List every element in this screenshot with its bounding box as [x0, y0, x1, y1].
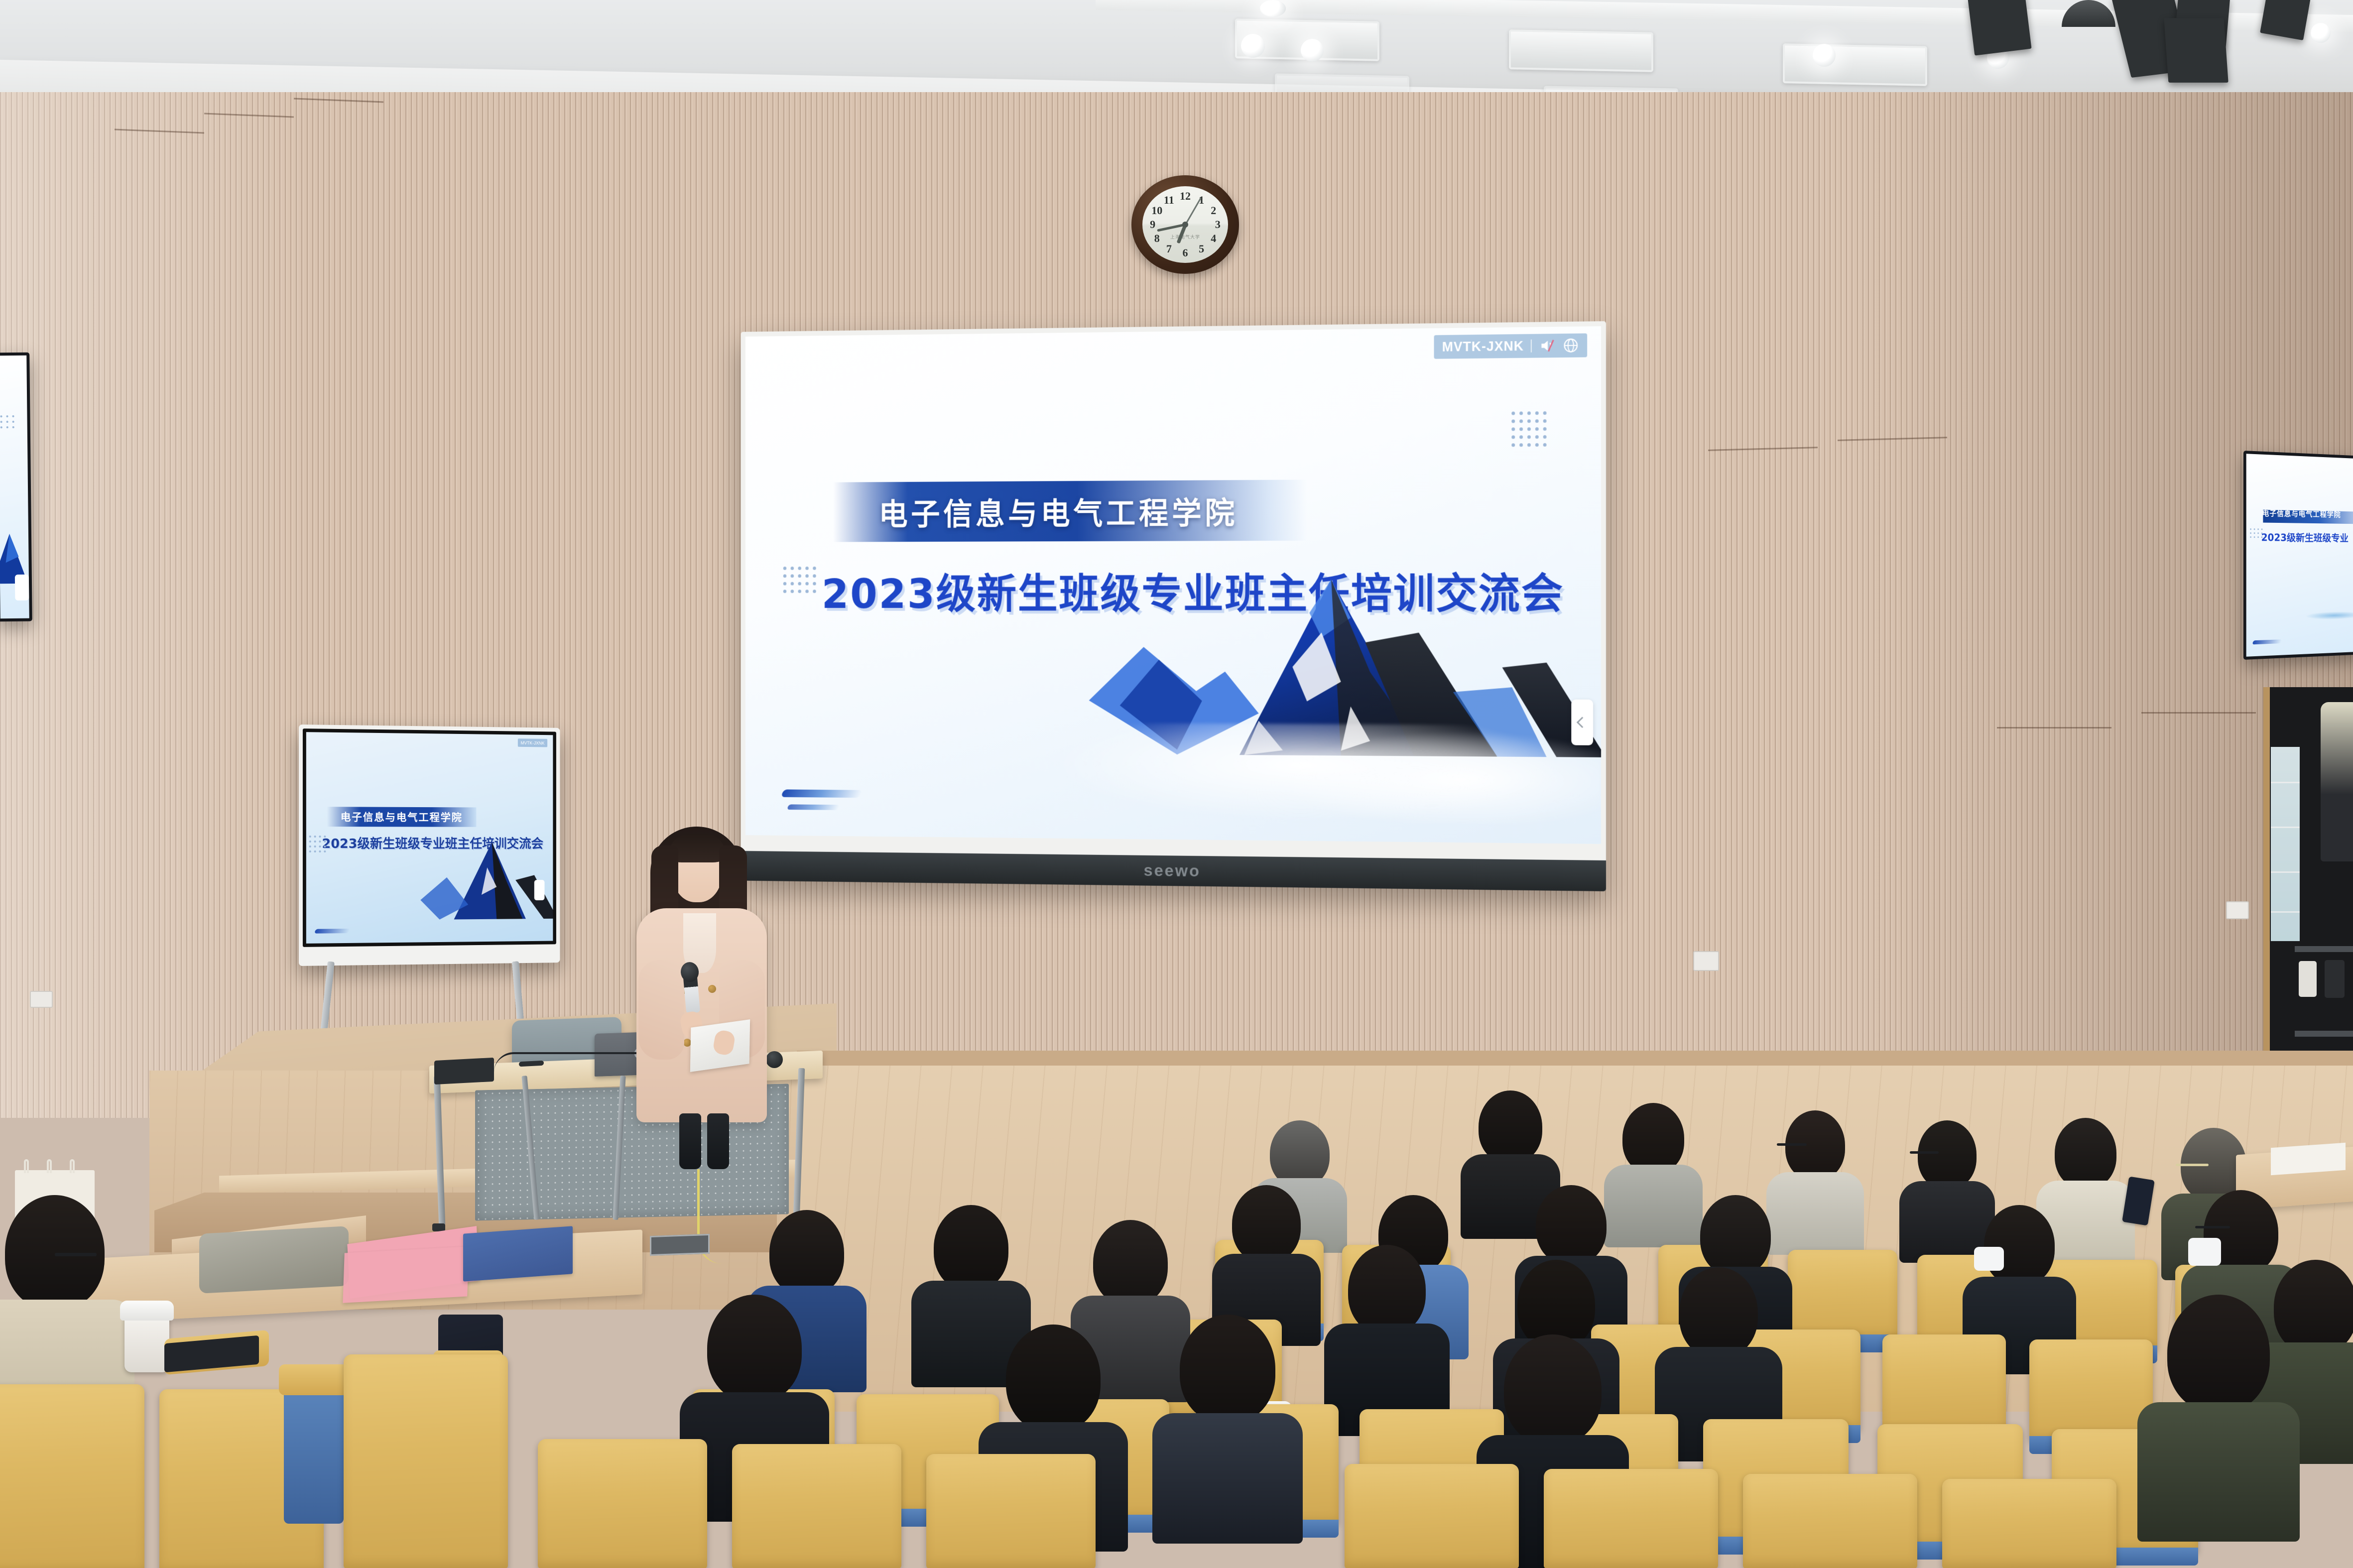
chevron-left-icon[interactable] — [1571, 700, 1593, 745]
audience-person — [1972, 1205, 2067, 1354]
backpack — [199, 1226, 349, 1294]
head — [2055, 1118, 2116, 1189]
auditorium-chair[interactable] — [1345, 1464, 1519, 1568]
eyeglasses — [55, 1253, 97, 1256]
auditorium-chair[interactable] — [1882, 1334, 2006, 1436]
clock-face: 12 1 2 3 4 5 6 7 8 9 10 11 上海电气大学 — [1142, 186, 1228, 263]
auditorium-chair[interactable] — [2029, 1339, 2153, 1441]
panel-bezel: MVTK-JXNK 电子信息与电气工程学院 2023级新生班级专业班主任培训交流… — [299, 724, 560, 966]
head — [1679, 1267, 1758, 1358]
chair-armrest[interactable] — [279, 1364, 349, 1395]
wall-seam — [2141, 712, 2256, 714]
decorative-swoosh — [787, 804, 840, 810]
coat-button — [708, 985, 716, 993]
panel-mountain-illustration — [401, 826, 553, 925]
eyeglasses — [2195, 1226, 2230, 1228]
wall-highlight-left — [0, 92, 309, 1118]
head — [769, 1210, 844, 1296]
head — [1270, 1120, 1330, 1187]
clock-numeral: 6 — [1183, 246, 1188, 259]
clock-center-pin — [1182, 222, 1188, 228]
status-pill-label: MVTK-JXNK — [1442, 338, 1524, 355]
audience-person — [1220, 1185, 1312, 1329]
mobile-interactive-panel[interactable]: MVTK-JXNK 电子信息与电气工程学院 2023级新生班级专业班主任培训交流… — [299, 724, 560, 966]
left-edge-display[interactable] — [0, 353, 32, 622]
auditorium-chair[interactable] — [538, 1439, 707, 1568]
presenter — [631, 816, 771, 1194]
wall-socket-plate[interactable] — [1693, 951, 1719, 971]
head — [707, 1295, 802, 1402]
clock-numeral: 8 — [1154, 232, 1160, 245]
display-bezel: MVTK-JXNK — [741, 321, 1606, 891]
head — [1348, 1245, 1426, 1334]
head — [1984, 1205, 2055, 1286]
right-wall-display[interactable]: 电子信息与电气工程学院 2023级新生班级专业 — [2243, 451, 2353, 660]
face-mask — [2188, 1238, 2221, 1266]
spot-light — [1260, 0, 1286, 17]
auditorium-chair[interactable] — [926, 1454, 1096, 1568]
head — [1700, 1195, 1771, 1276]
panel-screen[interactable]: MVTK-JXNK 电子信息与电气工程学院 2023级新生班级专业班主任培训交流… — [306, 732, 553, 944]
thermos — [2299, 961, 2317, 997]
slide-banner: 电子信息与电气工程学院 — [833, 480, 1307, 542]
head — [934, 1205, 1008, 1291]
podium-leg — [793, 1068, 805, 1217]
head — [1093, 1220, 1168, 1306]
panel-light — [1783, 43, 1927, 86]
shelf — [2295, 946, 2353, 952]
status-pill[interactable]: MVTK-JXNK — [1434, 333, 1587, 359]
head — [1479, 1090, 1542, 1163]
head — [2167, 1295, 2270, 1412]
presenter-boot — [679, 1113, 701, 1169]
panel-light — [1509, 29, 1653, 72]
face-mask — [1974, 1247, 2004, 1271]
podium-leg — [434, 1076, 445, 1225]
audio-receiver-unit[interactable] — [434, 1058, 494, 1085]
display-screen[interactable]: MVTK-JXNK — [745, 326, 1601, 844]
auditorium-chair[interactable] — [732, 1444, 901, 1568]
shelf — [2295, 1031, 2353, 1037]
audience-person — [2151, 1295, 2286, 1524]
coat-button — [683, 1039, 691, 1047]
auditorium-chair[interactable] — [1743, 1474, 1917, 1568]
audience-person — [1335, 1245, 1439, 1424]
chair-side-panel — [284, 1374, 344, 1524]
decorative-dot-grid — [783, 567, 816, 593]
lecture-hall-scene: 12 1 2 3 4 5 6 7 8 9 10 11 上海电气大学 — [0, 0, 2353, 1568]
network-globe-icon — [1562, 337, 1579, 354]
auditorium-chair[interactable] — [1942, 1479, 2116, 1568]
panel-status-pill[interactable]: MVTK-JXNK — [518, 738, 547, 747]
panel-inner-frame: MVTK-JXNK 电子信息与电气工程学院 2023级新生班级专业班主任培训交流… — [303, 728, 556, 947]
wall-switch-plate[interactable] — [2226, 901, 2249, 919]
spot-light — [2311, 23, 2331, 43]
pink-paper[interactable] — [343, 1246, 469, 1303]
auditorium-chair[interactable] — [0, 1384, 144, 1568]
eyeglasses — [1910, 1151, 1939, 1154]
cloud-mist — [1030, 723, 1601, 825]
hall-floor-edge — [797, 1051, 2353, 1066]
wall-socket-plate[interactable] — [30, 991, 53, 1008]
container — [2325, 960, 2345, 998]
clock-numeral: 4 — [1211, 232, 1216, 245]
clock-numeral: 10 — [1151, 204, 1162, 217]
wall-clock: 12 1 2 3 4 5 6 7 8 9 10 11 上海电气大学 — [1131, 175, 1239, 274]
auditorium-chair[interactable] — [1544, 1469, 1718, 1568]
head — [1232, 1185, 1301, 1263]
head — [5, 1195, 105, 1310]
head — [1006, 1325, 1101, 1432]
presenter-boot — [707, 1113, 729, 1169]
clock-numeral: 7 — [1166, 242, 1172, 255]
right-wall-display-screen: 电子信息与电气工程学院 2023级新生班级专业 — [2246, 454, 2353, 657]
head — [1180, 1315, 1275, 1423]
clock-numeral: 5 — [1199, 242, 1204, 255]
acoustic-baffle — [2164, 18, 2228, 83]
floor-power-box[interactable] — [650, 1234, 710, 1256]
blue-folder[interactable] — [463, 1226, 573, 1281]
panel-banner: 电子信息与电气工程学院 — [327, 807, 476, 827]
seewo-brand-text: seewo — [1144, 861, 1201, 881]
audience-person — [1773, 1110, 1858, 1235]
clock-brand-text: 上海电气大学 — [1170, 234, 1200, 240]
auditorium-chair[interactable] — [1788, 1250, 1897, 1339]
wall-seam — [1997, 727, 2111, 728]
eyeglasses — [1777, 1143, 1807, 1146]
panel-swoosh — [314, 929, 350, 934]
speaker-muted-icon — [1539, 337, 1556, 354]
chevron-left-icon[interactable] — [15, 575, 29, 601]
spot-light — [1301, 39, 1324, 62]
acoustic-baffle — [1968, 0, 2031, 56]
pill-divider — [1531, 340, 1532, 353]
audience-person — [1165, 1315, 1290, 1524]
torso — [1152, 1413, 1303, 1544]
eyeglasses — [2176, 1164, 2209, 1166]
right-display-banner-text: 电子信息与电气工程学院 — [2262, 508, 2341, 519]
head — [1918, 1120, 1977, 1189]
panel-status-label: MVTK-JXNK — [521, 740, 545, 745]
audience-person — [1611, 1103, 1696, 1227]
slide-banner-text: 电子信息与电气工程学院 — [879, 488, 1238, 534]
panel-banner-text: 电子信息与电气工程学院 — [341, 809, 463, 824]
clock-numeral: 3 — [1215, 218, 1221, 231]
head — [1536, 1185, 1607, 1265]
main-presentation-display[interactable]: MVTK-JXNK — [741, 321, 1606, 891]
clock-numeral: 9 — [1150, 218, 1155, 231]
decorative-dot-grid — [1511, 411, 1546, 447]
paper-sheet — [2271, 1143, 2346, 1175]
spot-light — [1241, 34, 1265, 58]
decorative-swoosh — [781, 789, 863, 798]
right-display-title: 2023级新生班级专业 — [2261, 529, 2349, 544]
clock-numeral: 2 — [1211, 204, 1216, 217]
person-in-doorway — [2321, 702, 2353, 861]
door-glass-panel — [2271, 747, 2300, 941]
head — [1622, 1103, 1684, 1174]
white-coffee-cup[interactable] — [124, 1315, 169, 1372]
clock-numeral: 11 — [1164, 194, 1174, 207]
clock-numeral: 12 — [1180, 190, 1191, 203]
cup-lid — [120, 1301, 174, 1321]
presenter-arm-left — [638, 960, 684, 1060]
spot-light — [1813, 44, 1836, 67]
auditorium-chair[interactable] — [344, 1354, 508, 1568]
left-edge-display-screen — [0, 356, 29, 619]
panel-chevron-left-icon[interactable] — [534, 880, 545, 900]
torso — [2137, 1402, 2300, 1542]
head — [1504, 1334, 1602, 1445]
